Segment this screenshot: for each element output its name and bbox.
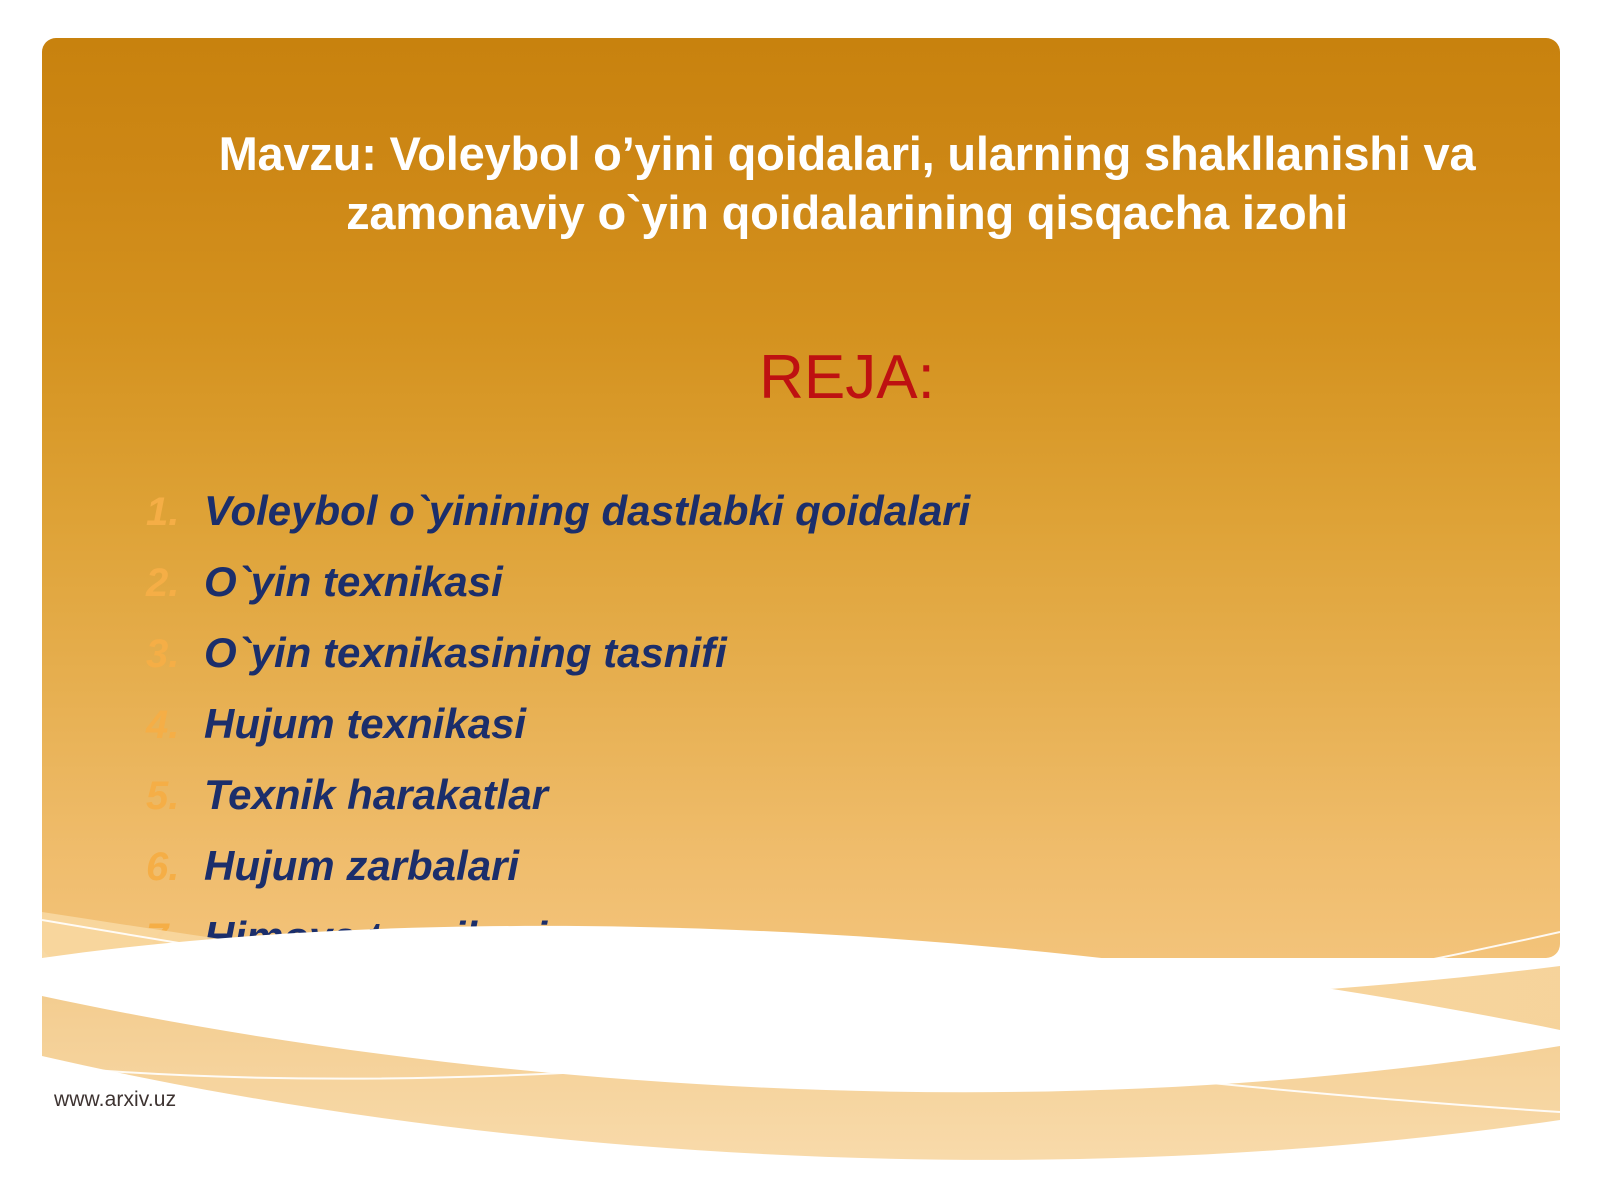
list-item-label: Texnik harakatlar: [204, 774, 548, 816]
list-item: 4. Hujum texnikasi: [146, 703, 1446, 774]
list-item: 6. Hujum zarbalari: [146, 845, 1446, 916]
list-item: 5. Texnik harakatlar: [146, 774, 1446, 845]
list-item-label: O`yin texnikasi: [204, 561, 503, 603]
list-item-number: 5.: [146, 776, 204, 816]
list-item: 7. Himoya texnikasi: [146, 916, 1446, 958]
list-item-label: Hujum zarbalari: [204, 845, 519, 887]
list-item: 2. O`yin texnikasi: [146, 561, 1446, 632]
list-item-label: Hujum texnikasi: [204, 703, 526, 745]
section-heading-reja: REJA:: [152, 344, 1542, 412]
list-item-number: 6.: [146, 847, 204, 887]
list-item-number: 1.: [146, 492, 204, 532]
list-item-label: O`yin texnikasining tasnifi: [204, 632, 727, 674]
list-item: 3. O`yin texnikasining tasnifi: [146, 632, 1446, 703]
list-item-number: 3.: [146, 634, 204, 674]
list-item: 1. Voleybol o`yinining dastlabki qoidala…: [146, 490, 1446, 561]
list-item-number: 7.: [146, 918, 204, 958]
slide-orange-panel: Mavzu: Voleybol o’yini qoidalari, ularni…: [42, 38, 1560, 958]
list-item-label: Voleybol o`yinining dastlabki qoidalari: [204, 490, 970, 532]
list-item-number: 2.: [146, 563, 204, 603]
page-title: Mavzu: Voleybol o’yini qoidalari, ularni…: [152, 124, 1542, 242]
plan-list: 1. Voleybol o`yinining dastlabki qoidala…: [146, 490, 1446, 958]
presentation-slide: Mavzu: Voleybol o’yini qoidalari, ularni…: [0, 0, 1600, 1200]
list-item-number: 4.: [146, 705, 204, 745]
list-item-label: Himoya texnikasi: [204, 916, 547, 958]
footer-website-label: www.arxiv.uz: [54, 1088, 176, 1112]
